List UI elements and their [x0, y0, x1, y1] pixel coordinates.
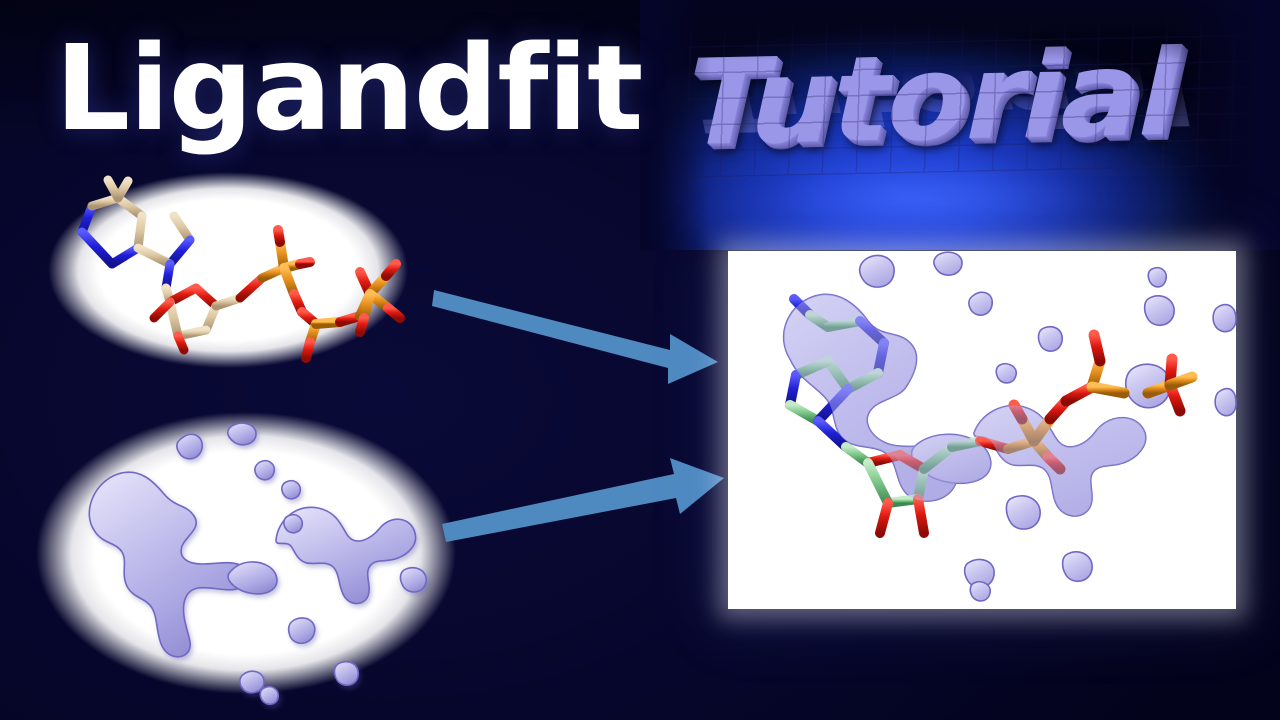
page-title: Ligandfit [55, 18, 642, 158]
ligand-fitted-into-density [728, 251, 1236, 609]
ligand-stick-model [48, 172, 408, 368]
arrow-ligand-to-result [432, 284, 722, 388]
arrow-density-to-result [442, 452, 732, 552]
electron-density-isosurface [36, 412, 456, 694]
tutorial-fade-right [1170, 0, 1280, 250]
slide-canvas: Tutorial Tutorial Ligandfit [0, 0, 1280, 720]
tutorial-fade-left [640, 0, 710, 250]
tutorial-banner: Tutorial Tutorial [640, 0, 1280, 250]
